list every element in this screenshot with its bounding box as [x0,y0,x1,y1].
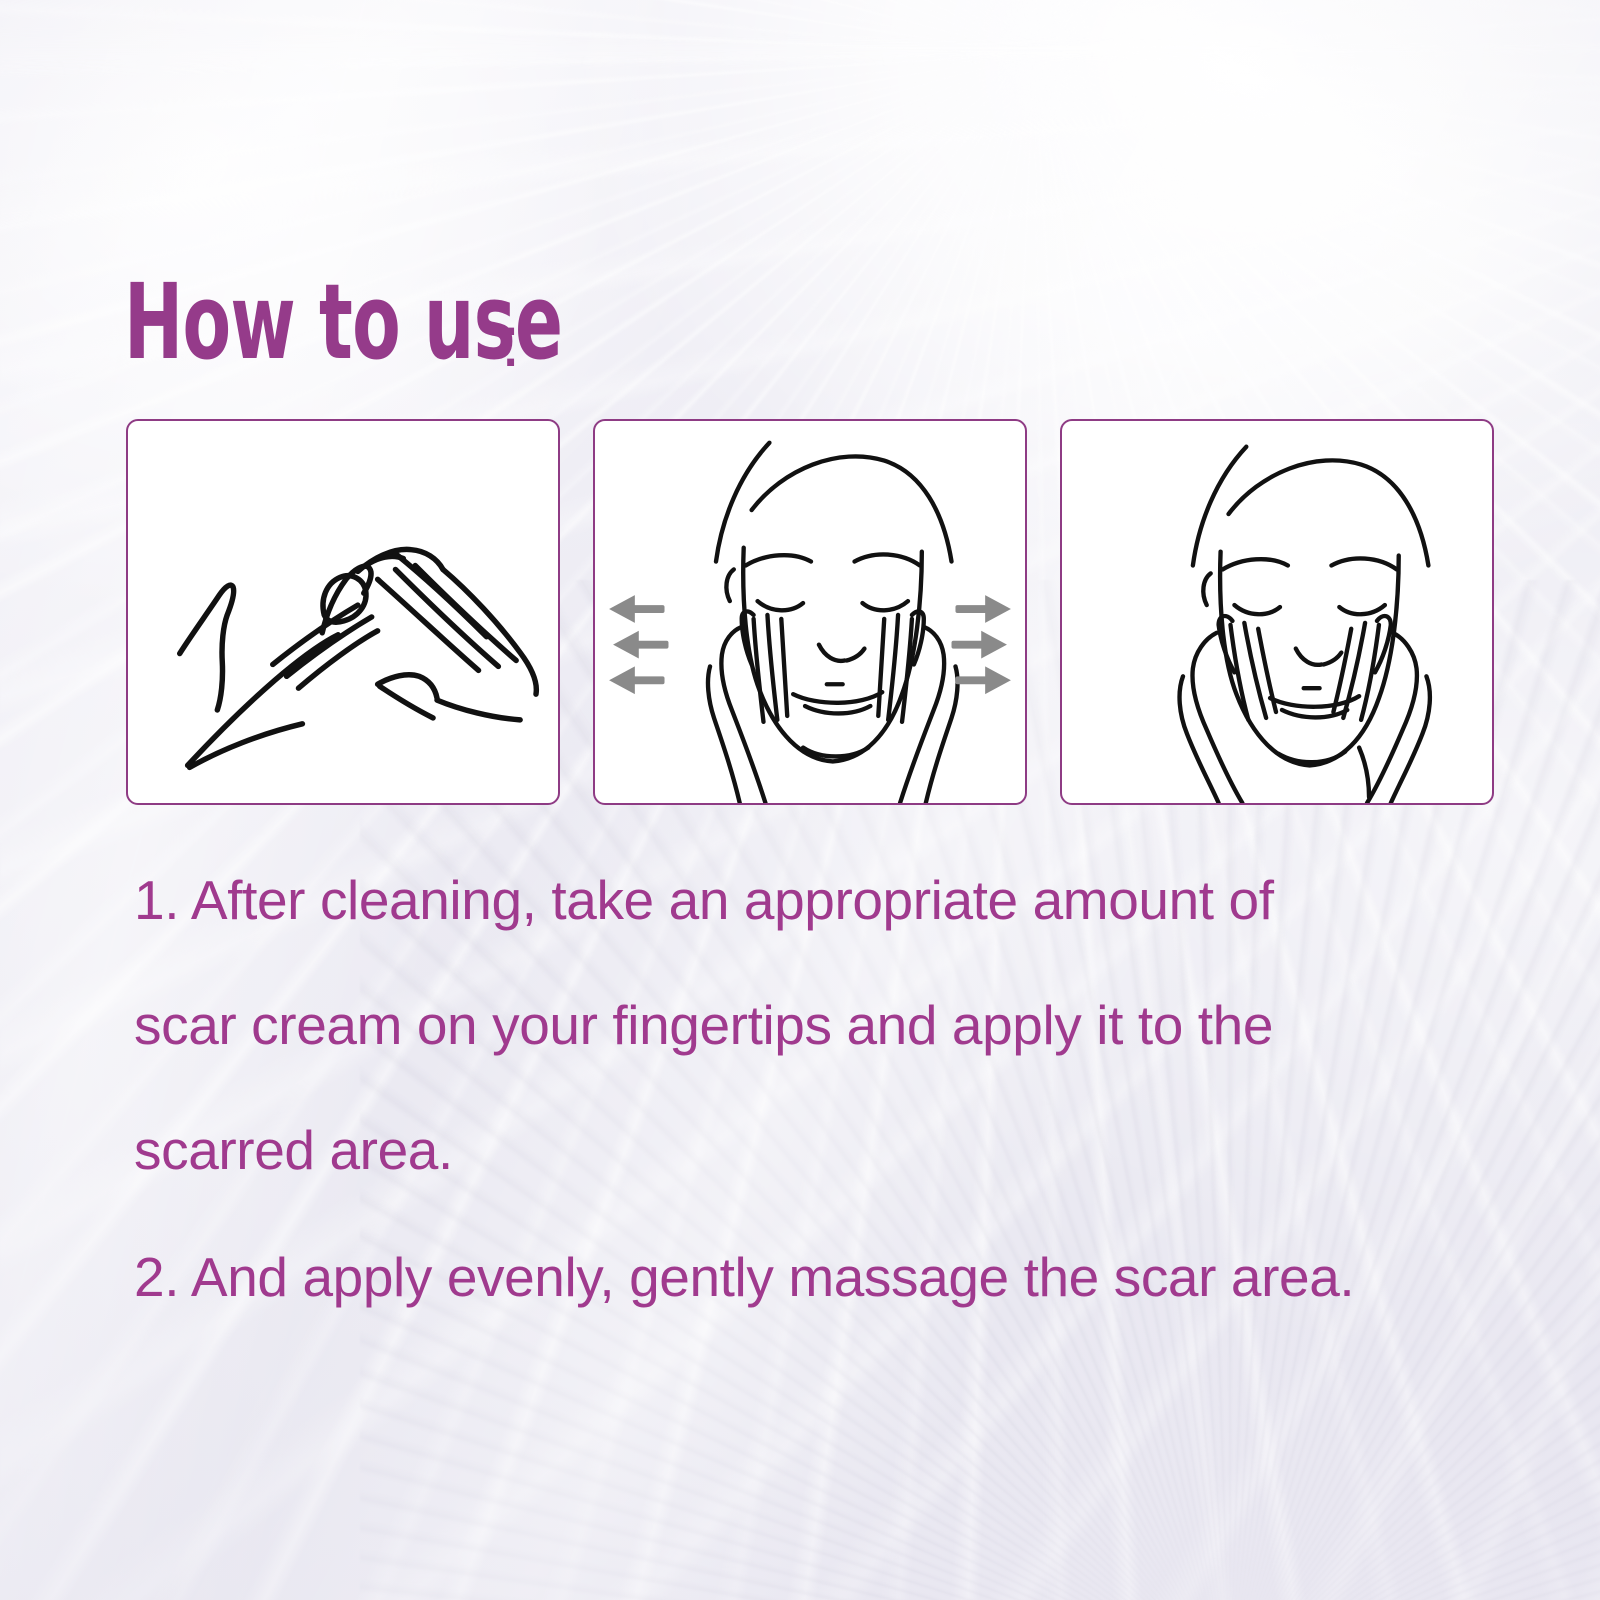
instructions-block: 1. After cleaning, take an appropriate a… [134,838,1534,1340]
massage-face-outward-icon [595,421,1025,803]
arrow-right-2 [952,631,1007,659]
page-title-text: How to use [124,272,562,372]
page-title: How to use : [124,262,521,372]
arrow-left-1 [609,595,664,623]
arrow-right-1 [955,595,1010,623]
instruction-panels [126,419,1494,805]
instruction-step1-line2: scar cream on your fingertips and apply … [134,963,1534,1088]
arrow-left-group [609,595,668,694]
panel-step-1 [126,419,560,805]
arrow-right-3 [955,666,1010,694]
arrow-left-2 [613,631,668,659]
arrow-right-group [952,595,1011,694]
how-to-use-poster: How to use : [0,0,1600,1600]
gentle-face-massage-icon [1062,421,1492,803]
instruction-step1-line1: 1. After cleaning, take an appropriate a… [134,838,1534,963]
instruction-step1-line3: scarred area. [134,1088,1534,1213]
panel-step-2 [593,419,1027,805]
arrow-left-3 [609,666,664,694]
panel-step-3 [1060,419,1494,805]
instruction-step2-line1: 2. And apply evenly, gently massage the … [134,1215,1534,1340]
apply-cream-to-fingertips-icon [128,421,558,803]
